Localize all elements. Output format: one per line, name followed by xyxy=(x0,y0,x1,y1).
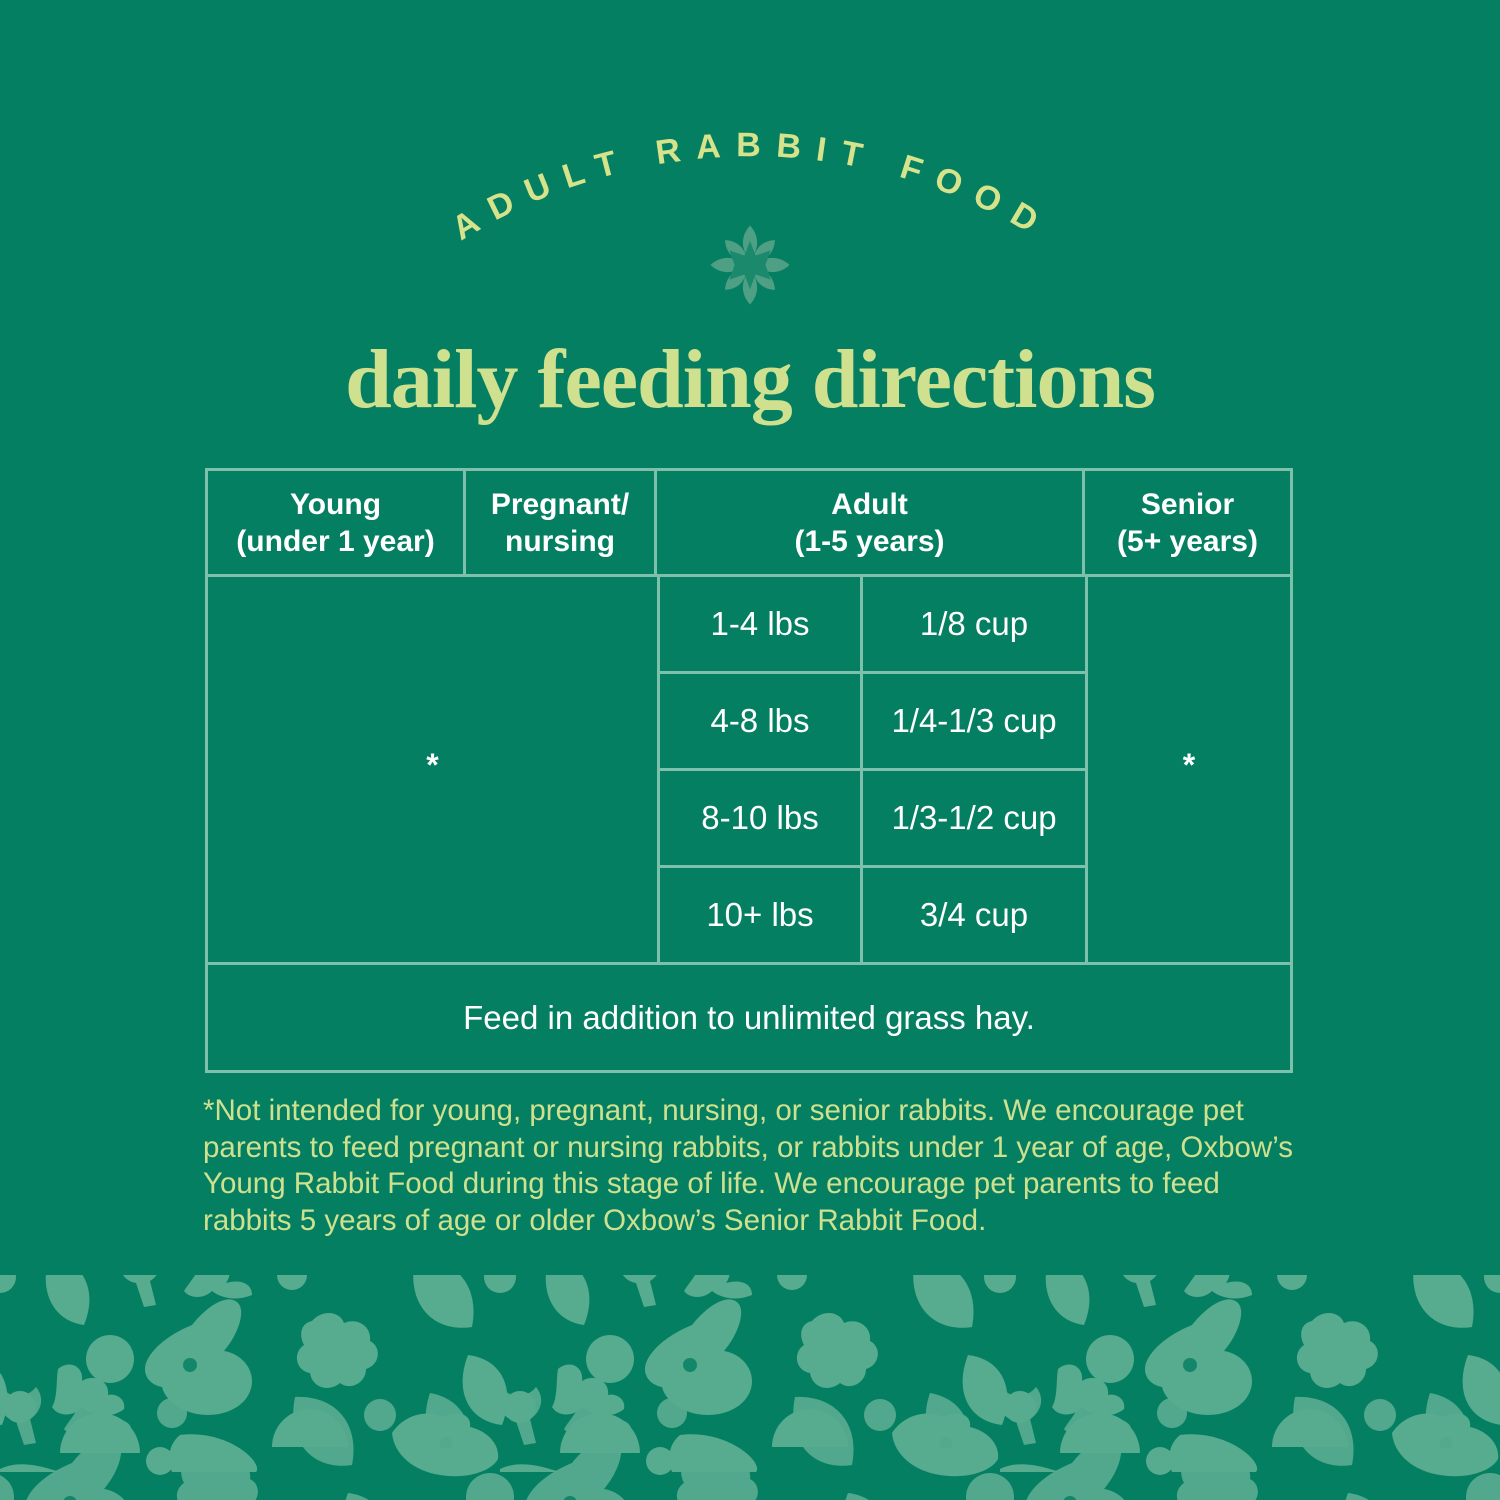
header-line-2: nursing xyxy=(505,523,615,560)
header-line-2: (1-5 years) xyxy=(794,523,944,560)
table-header-senior: Senior (5+ years) xyxy=(1085,471,1290,574)
cell-weight: 4-8 lbs xyxy=(660,674,863,768)
header-line-2: (under 1 year) xyxy=(236,523,434,560)
rosette-flower-icon xyxy=(707,222,793,308)
table-body-row: * 1-4 lbs 1/8 cup 4-8 lbs 1/4-1/3 cup 8-… xyxy=(208,577,1290,965)
header-line-1: Adult xyxy=(831,486,908,523)
cell-amount: 1/4-1/3 cup xyxy=(863,674,1085,768)
table-row: 4-8 lbs 1/4-1/3 cup xyxy=(660,674,1085,771)
cell-amount: 3/4 cup xyxy=(863,868,1085,962)
feeding-directions-page: { "eyebrow": { "text": "ADULT RABBIT FOO… xyxy=(0,0,1500,1500)
page-title: daily feeding directions xyxy=(0,332,1500,428)
asterisk-marker: * xyxy=(426,747,438,784)
table-header-pregnant: Pregnant/ nursing xyxy=(466,471,657,574)
table-header-young: Young (under 1 year) xyxy=(208,471,466,574)
table-row: 10+ lbs 3/4 cup xyxy=(660,868,1085,962)
feeding-directions-table: Young (under 1 year) Pregnant/ nursing A… xyxy=(205,468,1293,1073)
cell-senior-asterisk: * xyxy=(1088,577,1290,962)
asterisk-marker: * xyxy=(1183,747,1195,784)
cell-weight: 1-4 lbs xyxy=(660,577,863,671)
cell-amount: 1/8 cup xyxy=(863,577,1085,671)
header-line-2: (5+ years) xyxy=(1117,523,1258,560)
footnote-text: *Not intended for young, pregnant, nursi… xyxy=(203,1093,1297,1239)
header-line-1: Young xyxy=(290,486,381,523)
cell-weight: 10+ lbs xyxy=(660,868,863,962)
cell-weight: 8-10 lbs xyxy=(660,771,863,865)
pattern-svg xyxy=(0,1275,1500,1500)
header-line-1: Pregnant/ xyxy=(491,486,629,523)
cell-amount: 1/3-1/2 cup xyxy=(863,771,1085,865)
botanical-rabbit-pattern-band xyxy=(0,1275,1500,1500)
adult-feeding-grid: 1-4 lbs 1/8 cup 4-8 lbs 1/4-1/3 cup 8-10… xyxy=(660,577,1088,962)
cell-young-pregnant-asterisk: * xyxy=(208,577,660,962)
header-line-1: Senior xyxy=(1141,486,1234,523)
table-header-adult: Adult (1-5 years) xyxy=(657,471,1085,574)
table-note-row: Feed in addition to unlimited grass hay. xyxy=(208,965,1290,1070)
table-header-row: Young (under 1 year) Pregnant/ nursing A… xyxy=(208,471,1290,577)
table-row: 1-4 lbs 1/8 cup xyxy=(660,577,1085,674)
table-row: 8-10 lbs 1/3-1/2 cup xyxy=(660,771,1085,868)
